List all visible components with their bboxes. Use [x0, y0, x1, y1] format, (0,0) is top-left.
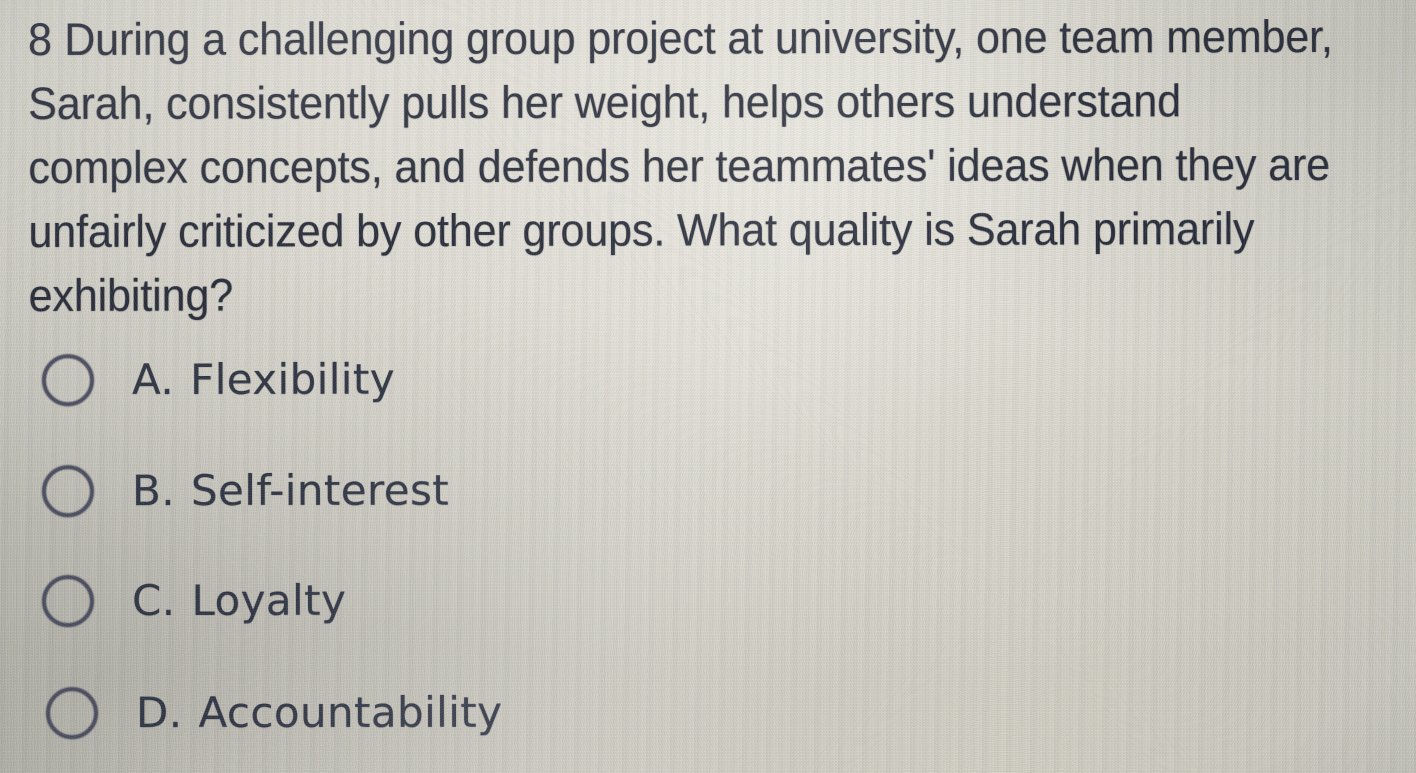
question-text-block: 8During a challenging group project at u… [28, 5, 1337, 328]
option-row-c[interactable]: C.Loyalty [0, 565, 346, 637]
option-label-b: B.Self-interest [132, 470, 449, 512]
option-label-d: D.Accountability [136, 692, 502, 734]
option-label-c: C.Loyalty [132, 580, 346, 622]
option-letter-a: A. [132, 355, 174, 404]
quiz-question-screen: 8During a challenging group project at u… [0, 0, 1416, 773]
option-letter-b: B. [132, 466, 175, 515]
option-text-c: Loyalty [191, 576, 346, 625]
option-text-a: Flexibility [190, 355, 395, 404]
option-text-b: Self-interest [191, 466, 449, 515]
option-letter-d: D. [136, 688, 183, 737]
question-number: 8 [28, 14, 52, 65]
option-row-d[interactable]: D.Accountability [0, 677, 502, 749]
question-body: During a challenging group project at un… [28, 11, 1333, 321]
radio-button-icon-b[interactable] [42, 465, 94, 517]
option-text-d: Accountability [198, 688, 502, 737]
option-row-a[interactable]: A.Flexibility [0, 344, 395, 417]
radio-button-icon-a[interactable] [42, 354, 94, 406]
radio-button-icon-d[interactable] [46, 687, 98, 739]
option-label-a: A.Flexibility [132, 359, 395, 401]
radio-button-icon-c[interactable] [42, 575, 94, 627]
option-row-b[interactable]: B.Self-interest [0, 455, 449, 528]
option-letter-c: C. [132, 576, 176, 625]
